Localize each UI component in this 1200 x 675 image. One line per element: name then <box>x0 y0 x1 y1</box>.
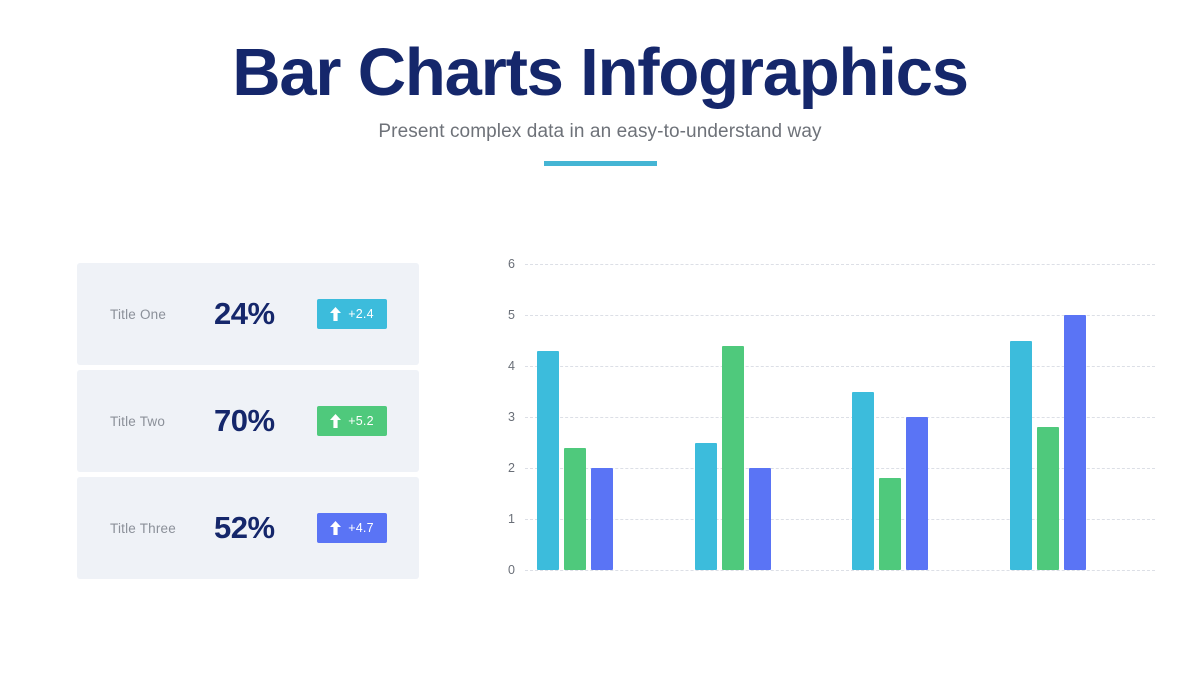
stat-card-label: Title One <box>110 307 166 322</box>
chart-bar <box>879 478 901 570</box>
page-title: Bar Charts Infographics <box>0 38 1200 108</box>
trend-badge-value: +2.4 <box>348 307 373 321</box>
chart-bar <box>1037 427 1059 570</box>
header: Bar Charts Infographics Present complex … <box>0 38 1200 166</box>
trend-badge[interactable]: +4.7 <box>317 513 387 543</box>
y-axis-tick-label: 3 <box>487 410 515 424</box>
stat-card-value: 70% <box>214 403 275 439</box>
trend-badge-value: +5.2 <box>348 414 373 428</box>
chart-bar <box>906 417 928 570</box>
trend-badge[interactable]: +5.2 <box>317 406 387 436</box>
stat-card[interactable]: Title Three 52% +4.7 <box>77 477 419 579</box>
chart-bar <box>722 346 744 570</box>
chart-bar <box>695 443 717 571</box>
arrow-up-icon <box>330 521 341 535</box>
y-axis-tick-label: 6 <box>487 257 515 271</box>
bar-chart: 0123456 <box>470 250 1160 590</box>
chart-bar <box>591 468 613 570</box>
gridline <box>525 570 1155 571</box>
slide: Bar Charts Infographics Present complex … <box>0 0 1200 675</box>
chart-bar <box>749 468 771 570</box>
y-axis-tick-label: 2 <box>487 461 515 475</box>
chart-bar <box>537 351 559 570</box>
trend-badge-value: +4.7 <box>348 521 373 535</box>
y-axis-tick-label: 0 <box>487 563 515 577</box>
stat-card-label: Title Two <box>110 414 165 429</box>
stat-card[interactable]: Title Two 70% +5.2 <box>77 370 419 472</box>
stat-card[interactable]: Title One 24% +2.4 <box>77 263 419 365</box>
trend-badge[interactable]: +2.4 <box>317 299 387 329</box>
chart-bar <box>1064 315 1086 570</box>
accent-divider <box>544 161 657 166</box>
chart-plot-area: 0123456 <box>525 264 1155 570</box>
stat-card-value: 24% <box>214 296 275 332</box>
page-subtitle: Present complex data in an easy-to-under… <box>0 121 1200 143</box>
y-axis-tick-label: 4 <box>487 359 515 373</box>
stat-card-value: 52% <box>214 510 275 546</box>
chart-bar <box>1010 341 1032 571</box>
chart-bars <box>525 264 1155 570</box>
stat-card-label: Title Three <box>110 521 176 536</box>
y-axis-tick-label: 1 <box>487 512 515 526</box>
arrow-up-icon <box>330 307 341 321</box>
y-axis-tick-label: 5 <box>487 308 515 322</box>
stat-card-list: Title One 24% +2.4 Title Two 70% <box>77 263 419 579</box>
arrow-up-icon <box>330 414 341 428</box>
chart-bar <box>564 448 586 570</box>
chart-bar <box>852 392 874 571</box>
